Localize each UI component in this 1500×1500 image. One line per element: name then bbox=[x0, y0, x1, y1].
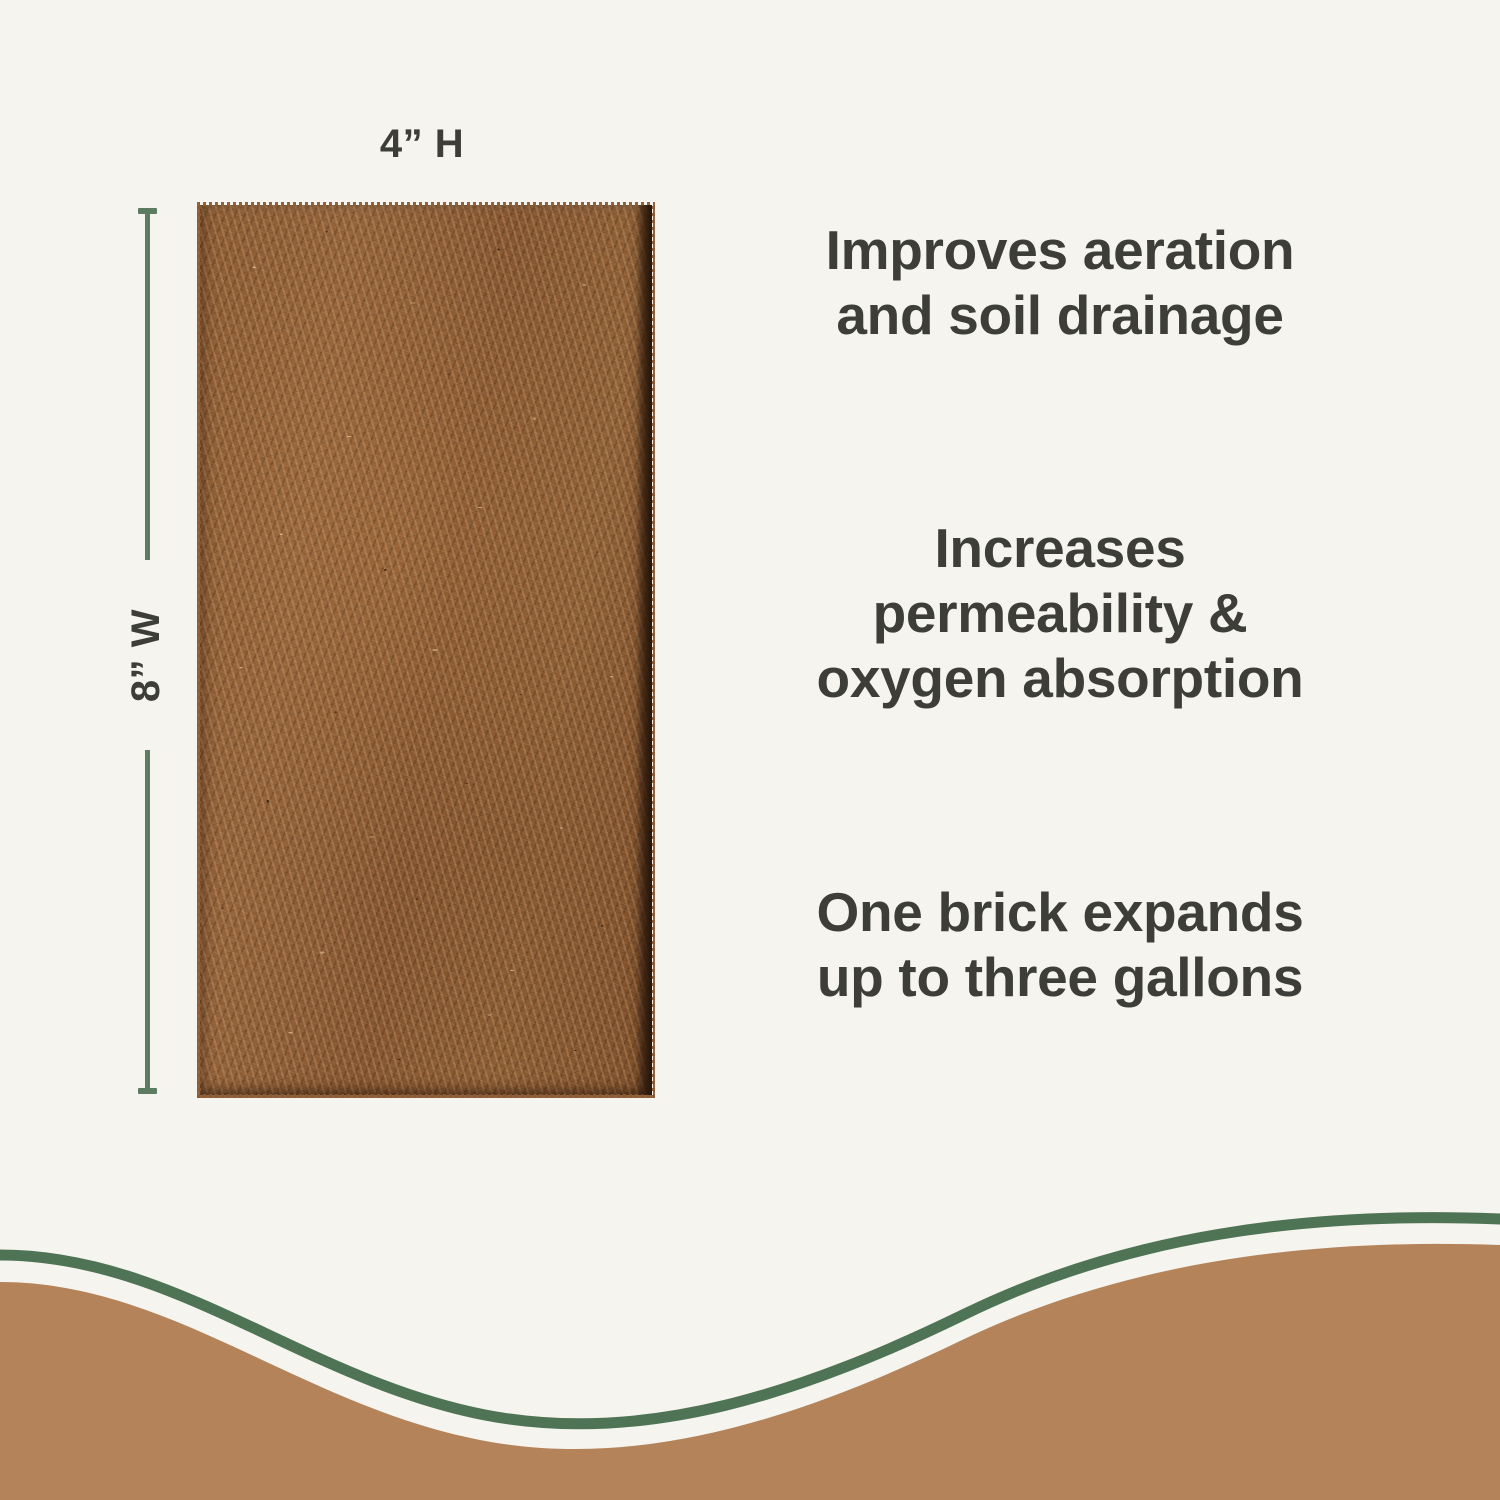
wave-tan-fill bbox=[0, 1244, 1500, 1500]
brick-fiber-rim bbox=[197, 202, 655, 1098]
benefit-permeability-line-1: Increases bbox=[700, 516, 1420, 581]
benefit-aeration: Improves aeration and soil drainage bbox=[700, 218, 1420, 348]
benefit-expansion-line-1: One brick expands bbox=[700, 880, 1420, 945]
horizontal-dimension-label: 4” H bbox=[207, 118, 637, 171]
coco-coir-brick-image bbox=[200, 205, 652, 1095]
benefit-permeability-line-3: oxygen absorption bbox=[700, 646, 1420, 711]
benefit-expansion-line-2: up to three gallons bbox=[700, 945, 1420, 1010]
benefit-aeration-line-1: Improves aeration bbox=[700, 218, 1420, 283]
dimension-tick-bottom bbox=[138, 1088, 157, 1094]
benefit-permeability: Increases permeability & oxygen absorpti… bbox=[700, 516, 1420, 711]
horizontal-dimension-text: 4” H bbox=[362, 122, 482, 167]
benefits-list: Improves aeration and soil drainage Incr… bbox=[700, 200, 1420, 1010]
benefit-permeability-line-2: permeability & bbox=[700, 581, 1420, 646]
vertical-dimension-text: 8” W bbox=[125, 608, 170, 701]
bottom-wave-decoration bbox=[0, 1200, 1500, 1500]
benefit-expansion: One brick expands up to three gallons bbox=[700, 880, 1420, 1010]
vertical-dimension-label: 8” W bbox=[99, 560, 195, 750]
brick-right-edge-shadow bbox=[636, 205, 652, 1095]
benefit-aeration-line-2: and soil drainage bbox=[700, 283, 1420, 348]
